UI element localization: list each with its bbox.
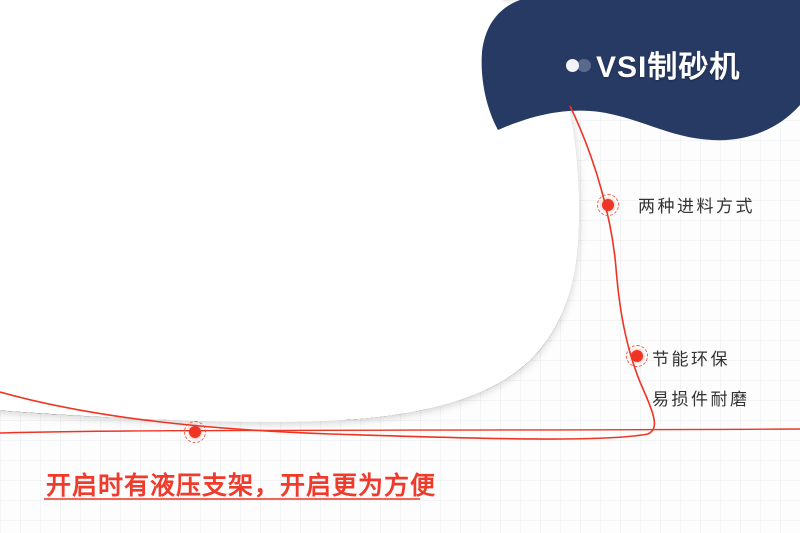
feature-label-feeding: 两种进料方式 xyxy=(638,192,755,217)
bullet-dot-icon xyxy=(566,59,592,72)
shrub xyxy=(538,318,584,373)
bottom-caption: 开启时有液压支架，开启更为方便 xyxy=(46,466,436,502)
cylinder-ring-upper xyxy=(178,78,344,86)
feature-label-energy: 节能环保 xyxy=(652,345,730,370)
feed-marker-dot xyxy=(597,194,619,216)
caption-underline xyxy=(44,498,420,500)
promo-banner: 7 xyxy=(0,0,800,533)
caption-marker-dot xyxy=(184,421,206,443)
page-title: VSI制砂机 xyxy=(596,42,740,86)
feature-label-wear: 易损件耐磨 xyxy=(652,385,750,410)
energy-marker-dot xyxy=(626,345,648,367)
